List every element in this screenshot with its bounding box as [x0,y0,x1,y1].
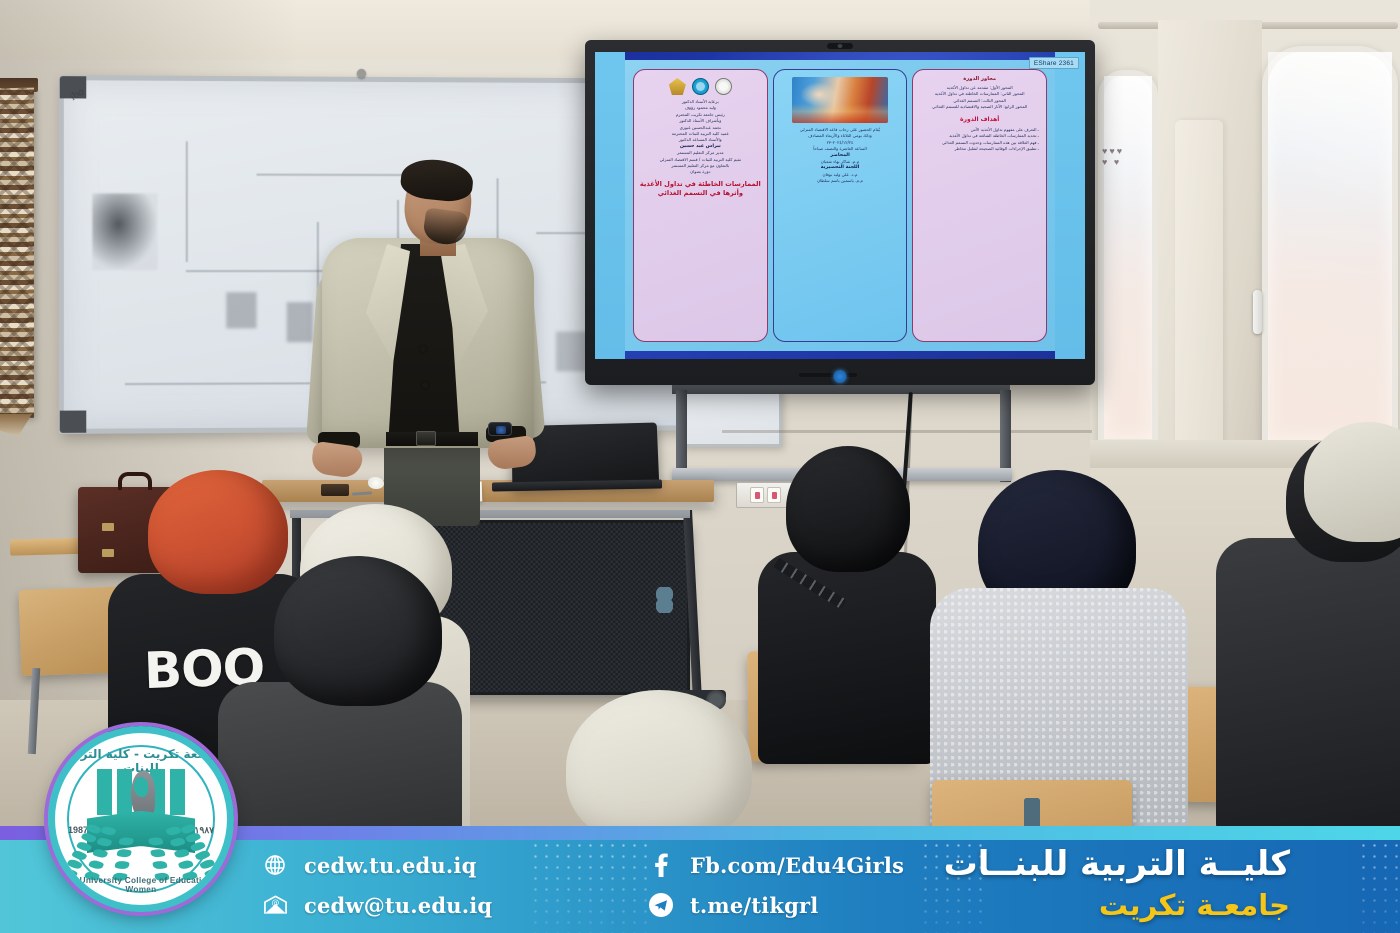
ministry-logo-icon [715,78,732,95]
wall-hanging-pattern [0,88,34,418]
patron-line: دورة بعنوان [639,169,762,175]
eshare-session-label: EShare 2361 [1029,57,1079,69]
decorative-dot-pattern [530,840,650,933]
axis-item: المحور الثاني: الممارسات الخاطئة في تداو… [918,91,1041,97]
goal-item: ـ تطبيق الإجراءات الوقائية الصحيحة لتقلي… [918,146,1041,153]
wristwatch [488,422,512,436]
contact-telegram[interactable]: t.me/tikgrl [648,892,904,918]
window-stickers: ♥♥♥♥ ♥ [1102,146,1148,180]
window-right [1262,46,1398,446]
facebook-label: Fb.com/Edu4Girls [690,853,904,878]
goal-item: ـ فهم العلاقة بين هذه الممارسات وحدوث ال… [918,140,1041,147]
decorative-dot-pattern [1358,840,1400,933]
slide-margin-right [1055,52,1085,359]
panel-power-button[interactable] [834,370,847,383]
institution-logos [639,78,762,95]
facebook-icon [648,852,674,878]
window-glare [1104,76,1152,439]
slide-panel-axes: محاور الدورة المحور الأول: مقدمة عن تداو… [912,69,1047,342]
window-glare [1268,52,1392,440]
student-jacket [1216,538,1400,834]
envelope-icon: @ [262,892,288,918]
axes-heading: محاور الدورة [918,76,1041,83]
goals-heading: أهداف الدورة [918,116,1041,124]
telegram-icon [648,892,674,918]
contact-column-right: Fb.com/Edu4Girls t.me/tikgrl [648,852,904,918]
student-seated [556,690,766,840]
student-hijab [1304,422,1400,542]
student-hijab [786,446,910,572]
seal-english-text: Tikrit University College of Education f… [55,876,227,894]
slide-panel-details: يُقام الحضور على رحاب قاعة الاقتصاد المن… [773,69,908,342]
university-seal-logo: جامعة تكريت - كلية التربية للبنات 1987 ١… [48,726,234,912]
panel-ir-sensor [799,373,857,377]
secondary-whiteboard [682,385,782,447]
whiteboard-screw [357,69,366,78]
globe-icon [262,852,288,878]
student-seated [1304,422,1400,572]
institution-name-block: كليــة التربية للبنــات جامعـة تكريت [944,842,1290,924]
student-seated [762,446,932,766]
university-name: جامعـة تكريت [944,886,1290,924]
slide-panel-title: برعاية الأستاذ الدكتور وليد محمود رؤوف ر… [633,69,768,342]
student-hijab [274,556,442,706]
panel-camera [827,43,853,49]
interactive-flat-panel[interactable]: محاور الدورة المحور الأول: مقدمة عن تداو… [585,40,1095,385]
presentation-slide: محاور الدورة المحور الأول: مقدمة عن تداو… [625,60,1055,351]
goal-item: ـ التعرف على مفهوم تداول الأغذية الآمن [918,127,1041,134]
svg-text:@: @ [271,898,279,907]
window-left [1098,70,1158,445]
presenter [300,160,550,520]
student-hijab [566,690,752,846]
presenter-hand-right [486,435,538,471]
food-handling-photo [792,77,888,123]
committee-member: م.م. ياسمين باسم سلطان [779,178,902,184]
college-logo-icon [669,78,686,95]
belt-buckle [416,431,436,446]
contact-website[interactable]: cedw.tu.edu.iq [262,852,492,878]
website-label: cedw.tu.edu.iq [304,853,476,878]
student-jacket [758,552,936,764]
university-logo-icon [692,78,709,95]
slide-margin-left [595,52,625,359]
panel-logo-icon [656,587,673,613]
email-label: cedw@tu.edu.iq [304,893,492,918]
contact-email[interactable]: @ cedw@tu.edu.iq [262,892,492,918]
panel-screen[interactable]: محاور الدورة المحور الأول: مقدمة عن تداو… [595,52,1085,359]
student-seated [946,470,1176,830]
telegram-label: t.me/tikgrl [690,893,818,918]
student-seated [218,556,448,846]
axis-item: المحور الرابع: الآثار الصحية والاقتصادية… [918,104,1041,110]
display-mount-bar [672,385,1010,394]
window-handle[interactable] [1253,290,1262,334]
contact-facebook[interactable]: Fb.com/Edu4Girls [648,852,904,878]
chair-backrest-slot [1024,798,1040,828]
pillar-inner-face [1175,120,1223,480]
college-name: كليــة التربية للبنــات [944,842,1290,886]
goal-item: ـ تحديد الممارسات الخاطئة الشائعة في تدا… [918,133,1041,140]
course-title: الممارسات الخاطئة في تداول الأغذية وأثره… [639,180,762,198]
screenshot-root: ♥♥♥♥ ♥ ibo [0,0,1400,933]
contact-column-left: cedw.tu.edu.iq @ cedw@tu.edu.iq [262,852,492,918]
